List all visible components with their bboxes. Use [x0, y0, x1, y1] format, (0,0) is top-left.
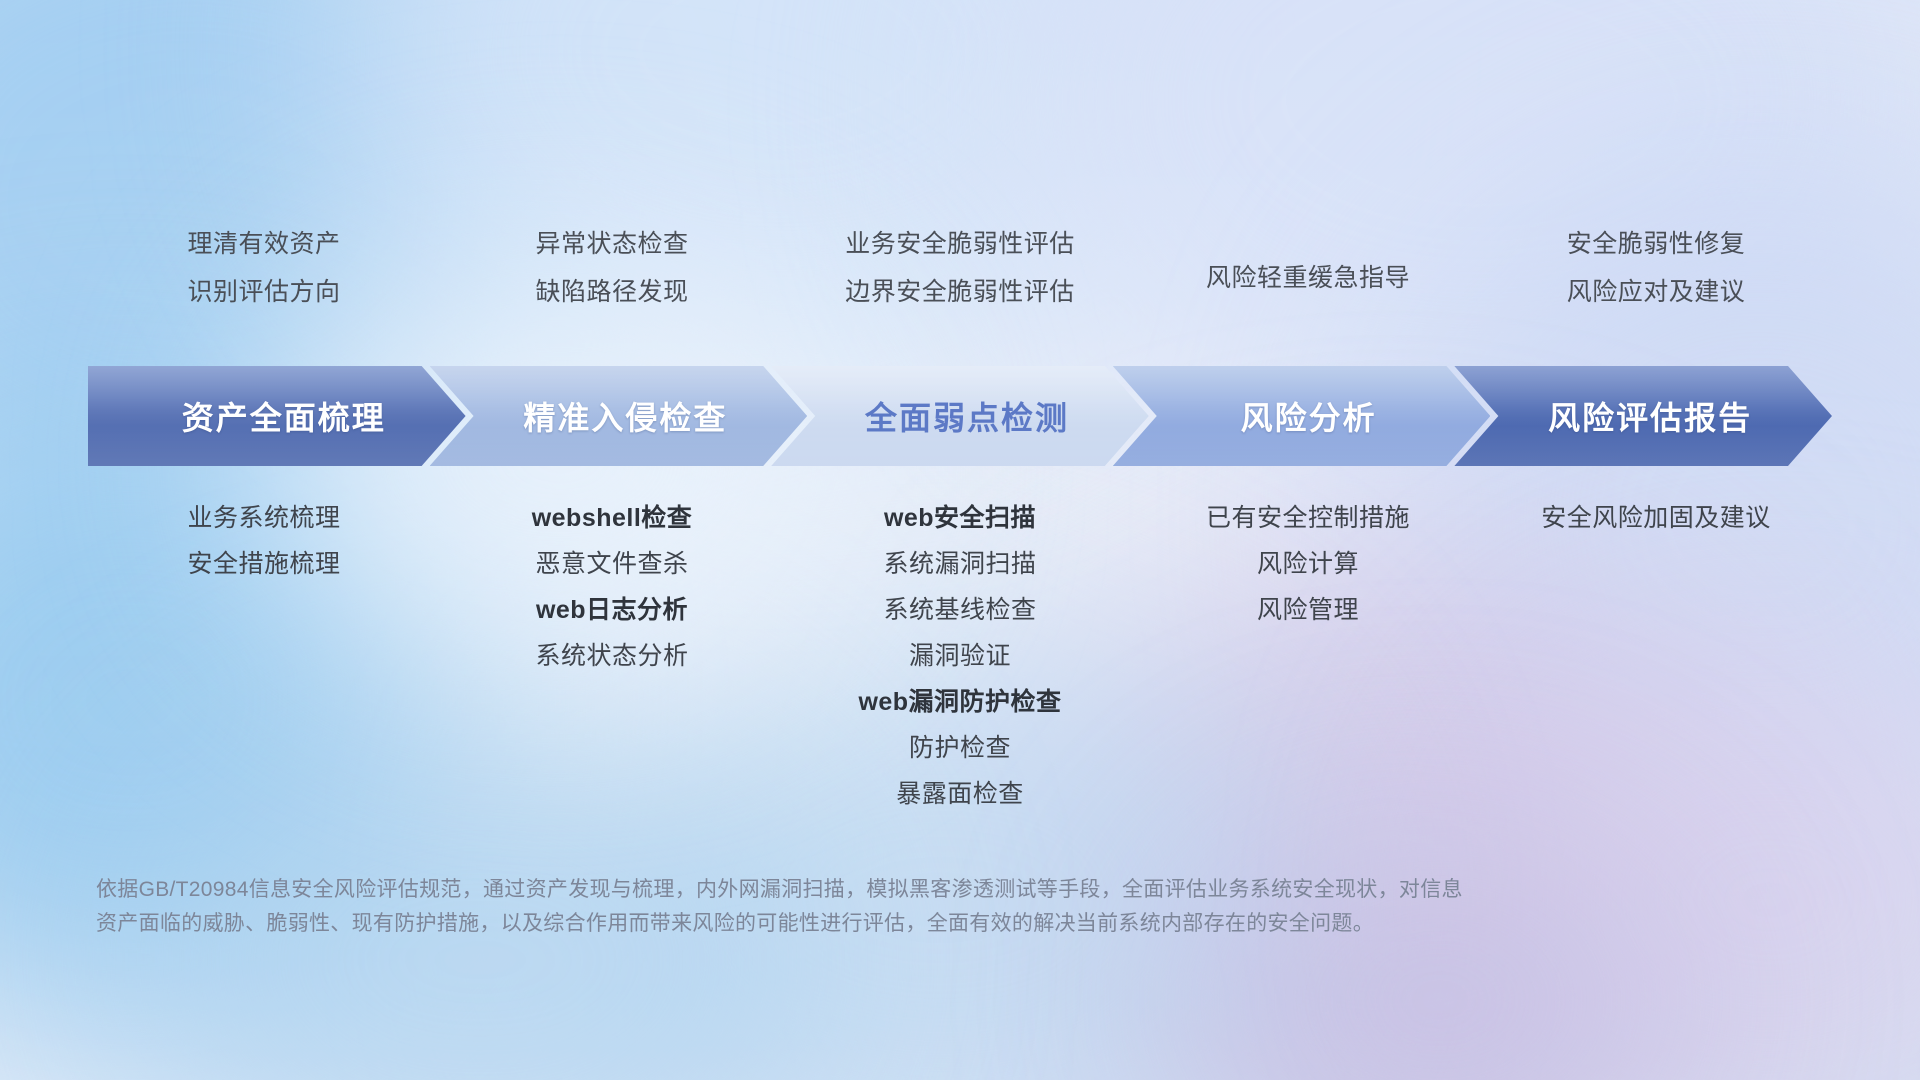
list-item: 业务系统梳理: [187, 502, 340, 534]
list-item: webshell检查: [532, 502, 693, 534]
list-item: 安全风险加固及建议: [1541, 502, 1771, 534]
list-item: 风险管理: [1257, 594, 1359, 626]
list-item: web漏洞防护检查: [858, 686, 1061, 718]
top-note: 边界安全脆弱性评估: [845, 276, 1075, 308]
top-notes-row: 理清有效资产 识别评估方向 异常状态检查 缺陷路径发现 业务安全脆弱性评估 边界…: [90, 228, 1830, 308]
list-item: 风险计算: [1257, 548, 1359, 580]
list-item: web安全扫描: [884, 502, 1036, 534]
list-item: 安全措施梳理: [187, 548, 340, 580]
stage-label: 全面弱点检测: [851, 393, 1069, 439]
top-note: 业务安全脆弱性评估: [845, 228, 1075, 260]
list-item: 系统漏洞扫描: [883, 548, 1036, 580]
top-notes-risk-report: 安全脆弱性修复 风险应对及建议: [1482, 228, 1830, 308]
stage-chevron-asset-inventory[interactable]: 资产全面梳理: [88, 366, 466, 466]
top-note: 异常状态检查: [535, 228, 688, 260]
top-note: 识别评估方向: [187, 276, 340, 308]
stage-chevron-risk-analysis[interactable]: 风险分析: [1113, 366, 1491, 466]
top-note: 缺陷路径发现: [535, 276, 688, 308]
list-item: 系统基线检查: [883, 594, 1036, 626]
top-notes-intrusion-check: 异常状态检查 缺陷路径发现: [438, 228, 786, 308]
top-note: 理清有效资产: [187, 228, 340, 260]
items-risk-report: 安全风险加固及建议: [1482, 502, 1830, 534]
top-notes-weakness-detection: 业务安全脆弱性评估 边界安全脆弱性评估: [786, 228, 1134, 308]
slide-canvas: 理清有效资产 识别评估方向 异常状态检查 缺陷路径发现 业务安全脆弱性评估 边界…: [0, 0, 1920, 1080]
bottom-lists-row: 业务系统梳理 安全措施梳理 webshell检查 恶意文件查杀 web日志分析 …: [90, 502, 1830, 810]
list-item: 暴露面检查: [896, 778, 1024, 810]
list-item: 恶意文件查杀: [535, 548, 688, 580]
diagram-content: 理清有效资产 识别评估方向 异常状态检查 缺陷路径发现 业务安全脆弱性评估 边界…: [0, 0, 1920, 1080]
items-intrusion-check: webshell检查 恶意文件查杀 web日志分析 系统状态分析: [438, 502, 786, 672]
footer-description: 依据GB/T20984信息安全风险评估规范，通过资产发现与梳理，内外网漏洞扫描，…: [96, 873, 1616, 941]
top-note: 风险轻重缓急指导: [1206, 262, 1410, 294]
list-item: 系统状态分析: [535, 640, 688, 672]
items-asset-inventory: 业务系统梳理 安全措施梳理: [90, 502, 438, 580]
items-risk-analysis: 已有安全控制措施 风险计算 风险管理: [1134, 502, 1482, 626]
list-item: 漏洞验证: [909, 640, 1011, 672]
stage-label: 精准入侵检查: [509, 393, 727, 439]
stage-chevron-weakness-detection[interactable]: 全面弱点检测: [771, 366, 1149, 466]
footer-line: 依据GB/T20984信息安全风险评估规范，通过资产发现与梳理，内外网漏洞扫描，…: [96, 873, 1616, 907]
stage-label: 风险分析: [1227, 393, 1377, 439]
items-weakness-detection: web安全扫描 系统漏洞扫描 系统基线检查 漏洞验证 web漏洞防护检查 防护检…: [786, 502, 1134, 810]
footer-line: 资产面临的威胁、脆弱性、现有防护措施，以及综合作用而带来风险的可能性进行评估，全…: [96, 907, 1616, 941]
stage-chevron-risk-report[interactable]: 风险评估报告: [1454, 366, 1832, 466]
top-notes-asset-inventory: 理清有效资产 识别评估方向: [90, 228, 438, 308]
list-item: 防护检查: [909, 732, 1011, 764]
stage-label: 风险评估报告: [1534, 393, 1752, 439]
top-note: 风险应对及建议: [1567, 276, 1746, 308]
stage-chevron-intrusion-check[interactable]: 精准入侵检查: [430, 366, 808, 466]
process-chevron-band: 资产全面梳理 精准入侵检查 全面弱点检测 风险分析 风险评估报告: [88, 366, 1832, 466]
top-notes-risk-analysis: 风险轻重缓急指导: [1134, 228, 1482, 308]
list-item: web日志分析: [536, 594, 688, 626]
top-note: 安全脆弱性修复: [1567, 228, 1746, 260]
stage-label: 资产全面梳理: [168, 393, 386, 439]
list-item: 已有安全控制措施: [1206, 502, 1410, 534]
